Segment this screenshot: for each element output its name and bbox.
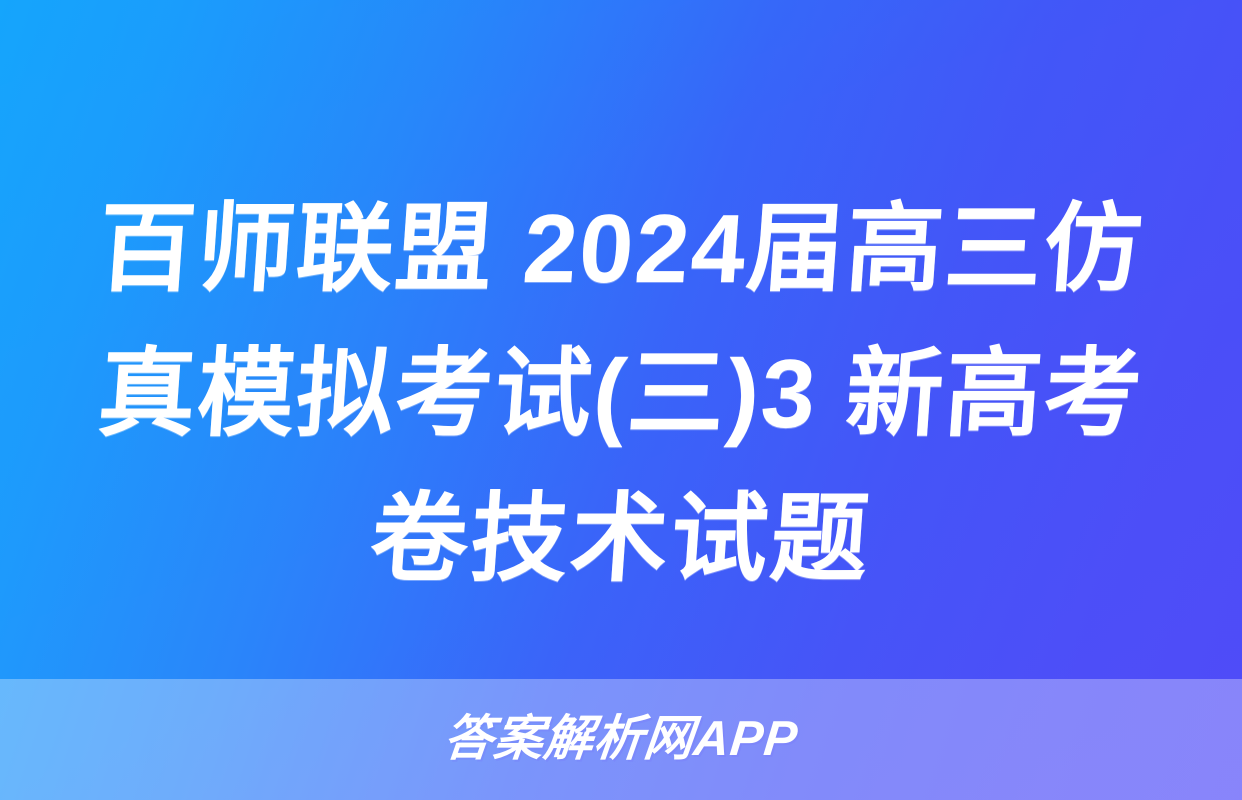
watermark-label: 答案解析网APP — [442, 715, 801, 764]
title-line-2: 真模拟考试(三)3 新高考 — [29, 321, 1213, 466]
title-line-1: 百师联盟 2024届高三仿 — [29, 176, 1213, 321]
page-title: 百师联盟 2024届高三仿 真模拟考试(三)3 新高考 卷技术试题 — [0, 176, 1242, 611]
footer-band: 答案解析网APP — [0, 679, 1242, 800]
exam-title-banner: 百师联盟 2024届高三仿 真模拟考试(三)3 新高考 卷技术试题 答案解析网A… — [0, 0, 1242, 800]
title-line-3: 卷技术试题 — [29, 466, 1213, 611]
